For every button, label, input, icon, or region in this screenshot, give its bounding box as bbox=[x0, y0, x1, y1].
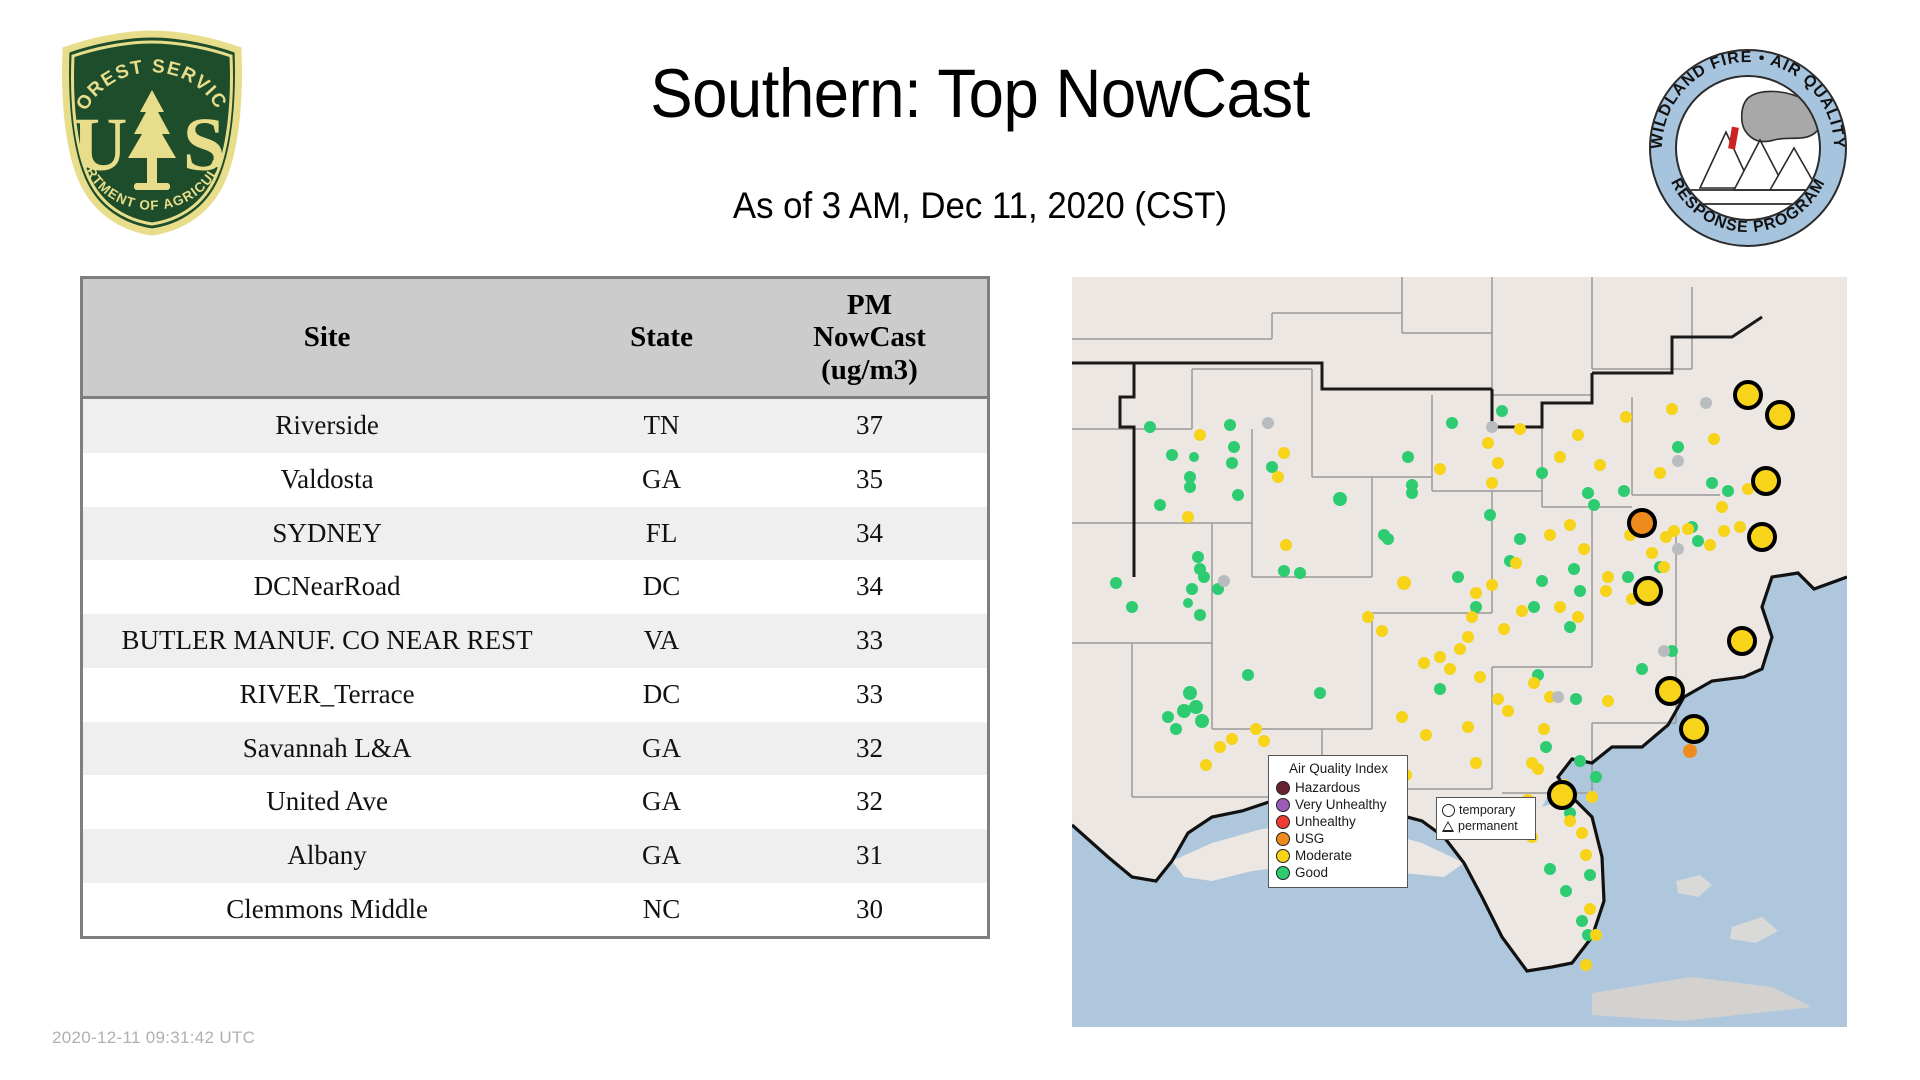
top-site-marker-valdosta bbox=[1681, 716, 1707, 742]
symbol-legend-row-permanent: permanent bbox=[1442, 818, 1530, 834]
cell-state: GA bbox=[571, 722, 752, 776]
monitor-usg bbox=[1683, 744, 1697, 758]
cell-pm-nowcast: 32 bbox=[752, 775, 987, 829]
cell-site: SYDNEY bbox=[83, 507, 571, 561]
cell-site: BUTLER MANUF. CO NEAR REST bbox=[83, 614, 571, 668]
cell-pm-nowcast: 31 bbox=[752, 829, 987, 883]
table-row: United AveGA32 bbox=[83, 775, 987, 829]
page-subtitle: As of 3 AM, Dec 11, 2020 (CST) bbox=[369, 185, 1591, 227]
cell-pm-nowcast: 37 bbox=[752, 398, 987, 453]
column-header-pm-line2: NowCast bbox=[756, 321, 983, 353]
aqi-legend-label: USG bbox=[1295, 831, 1324, 846]
cell-site: Savannah L&A bbox=[83, 722, 571, 776]
cell-pm-nowcast: 33 bbox=[752, 614, 987, 668]
symbol-legend-label-permanent: permanent bbox=[1458, 819, 1518, 833]
aqi-legend-label: Hazardous bbox=[1295, 780, 1360, 795]
table-row: AlbanyGA31 bbox=[83, 829, 987, 883]
column-header-pm-nowcast: PM NowCast (ug/m3) bbox=[752, 279, 987, 398]
aqi-legend: Air Quality Index HazardousVery Unhealth… bbox=[1268, 755, 1408, 888]
table-row: RiversideTN37 bbox=[83, 398, 987, 453]
page-title: Southern: Top NowCast bbox=[382, 58, 1578, 130]
symbol-legend: temporary permanent bbox=[1436, 797, 1536, 840]
top-site-marker-albany bbox=[1657, 678, 1683, 704]
cell-site: Riverside bbox=[83, 398, 571, 453]
aqi-legend-row: Good bbox=[1276, 864, 1401, 881]
aqi-legend-label: Moderate bbox=[1295, 848, 1352, 863]
aqi-legend-label: Good bbox=[1295, 865, 1328, 880]
cell-pm-nowcast: 34 bbox=[752, 560, 987, 614]
aqi-legend-label: Unhealthy bbox=[1295, 814, 1356, 829]
aqi-swatch-icon bbox=[1276, 781, 1290, 795]
aqi-legend-row: Very Unhealthy bbox=[1276, 796, 1401, 813]
symbol-legend-label-temporary: temporary bbox=[1459, 803, 1515, 817]
aqi-swatch-icon bbox=[1276, 832, 1290, 846]
cell-state: DC bbox=[571, 560, 752, 614]
aqi-legend-row: Unhealthy bbox=[1276, 813, 1401, 830]
usfs-shield-logo: FOREST SERVICE U S DEPARTMENT OF AGRICUL… bbox=[52, 28, 252, 238]
aqi-legend-row: Hazardous bbox=[1276, 779, 1401, 796]
cell-state: GA bbox=[571, 775, 752, 829]
aqi-swatch-icon bbox=[1276, 798, 1290, 812]
cell-site: Valdosta bbox=[83, 453, 571, 507]
table-row: BUTLER MANUF. CO NEAR RESTVA33 bbox=[83, 614, 987, 668]
top-site-marker-butler-manuf bbox=[1753, 468, 1779, 494]
cell-state: GA bbox=[571, 829, 752, 883]
footer-timestamp: 2020-12-11 09:31:42 UTC bbox=[52, 1028, 255, 1048]
cell-pm-nowcast: 33 bbox=[752, 668, 987, 722]
aqi-legend-row: USG bbox=[1276, 830, 1401, 847]
wildland-fire-air-quality-response-program-logo: WILDLAND FIRE • AIR QUALITY RESPONSE PRO… bbox=[1648, 48, 1848, 248]
table-row: Clemmons MiddleNC30 bbox=[83, 883, 987, 937]
top-site-marker-dcnearroad bbox=[1735, 382, 1761, 408]
aqi-legend-label: Very Unhealthy bbox=[1295, 797, 1387, 812]
aqi-legend-title: Air Quality Index bbox=[1276, 761, 1401, 776]
southern-region-air-quality-map[interactable]: Air Quality Index HazardousVery Unhealth… bbox=[1072, 277, 1847, 1027]
column-header-pm-line3: (ug/m3) bbox=[756, 354, 983, 386]
cell-site: DCNearRoad bbox=[83, 560, 571, 614]
top-site-marker-clemmons-middle bbox=[1749, 524, 1775, 550]
cell-state: TN bbox=[571, 398, 752, 453]
column-header-pm-line1: PM bbox=[756, 289, 983, 321]
top-site-marker-riverside bbox=[1629, 510, 1655, 536]
cell-site: RIVER_Terrace bbox=[83, 668, 571, 722]
column-header-site: Site bbox=[83, 279, 571, 398]
permanent-monitor-icon bbox=[1442, 821, 1454, 832]
top-site-marker-river-terrace bbox=[1767, 402, 1793, 428]
table-row: ValdostaGA35 bbox=[83, 453, 987, 507]
table-row: SYDNEYFL34 bbox=[83, 507, 987, 561]
temporary-monitor-icon bbox=[1442, 804, 1455, 817]
table-row: DCNearRoadDC34 bbox=[83, 560, 987, 614]
cell-state: GA bbox=[571, 453, 752, 507]
table-row: RIVER_TerraceDC33 bbox=[83, 668, 987, 722]
cell-pm-nowcast: 32 bbox=[752, 722, 987, 776]
top-site-marker-sydney bbox=[1549, 782, 1575, 808]
cell-state: NC bbox=[571, 883, 752, 937]
aqi-swatch-icon bbox=[1276, 815, 1290, 829]
top-site-marker-united-ave bbox=[1635, 578, 1661, 604]
cell-state: VA bbox=[571, 614, 752, 668]
cell-site: Albany bbox=[83, 829, 571, 883]
cell-pm-nowcast: 35 bbox=[752, 453, 987, 507]
cell-state: FL bbox=[571, 507, 752, 561]
cell-state: DC bbox=[571, 668, 752, 722]
column-header-state: State bbox=[571, 279, 752, 398]
aqi-swatch-icon bbox=[1276, 866, 1290, 880]
top-site-marker-savannah-la bbox=[1729, 628, 1755, 654]
cell-site: Clemmons Middle bbox=[83, 883, 571, 937]
table-row: Savannah L&AGA32 bbox=[83, 722, 987, 776]
aqi-swatch-icon bbox=[1276, 849, 1290, 863]
table-header-row: Site State PM NowCast (ug/m3) bbox=[83, 279, 987, 398]
map-canvas bbox=[1072, 277, 1847, 1027]
symbol-legend-row-temporary: temporary bbox=[1442, 802, 1530, 818]
cell-pm-nowcast: 34 bbox=[752, 507, 987, 561]
nowcast-table: Site State PM NowCast (ug/m3) RiversideT… bbox=[80, 276, 990, 939]
aqi-legend-row: Moderate bbox=[1276, 847, 1401, 864]
cell-site: United Ave bbox=[83, 775, 571, 829]
cell-pm-nowcast: 30 bbox=[752, 883, 987, 937]
